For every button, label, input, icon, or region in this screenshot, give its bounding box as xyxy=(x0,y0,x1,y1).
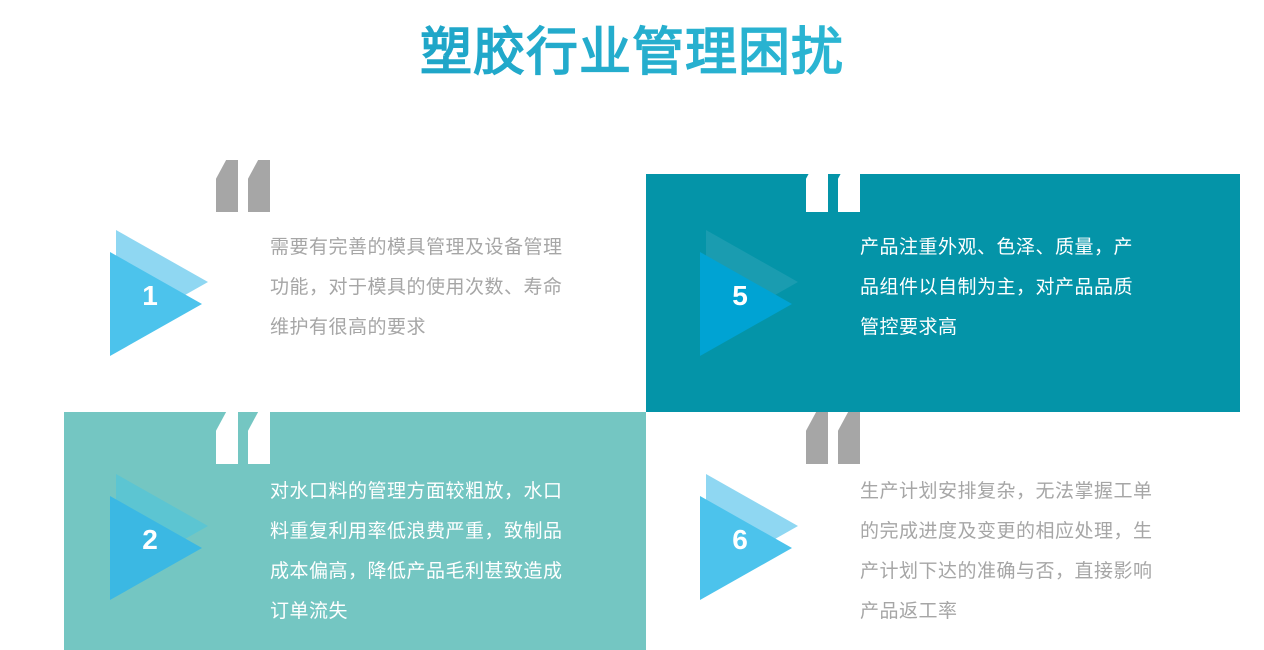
issue-text-2: 对水口料的管理方面较粗放，水口 料重复利用率低浪费严重，致制品 成本偏高，降低产… xyxy=(270,472,640,632)
issue-text-line: 生产计划安排复杂，无法掌握工单 xyxy=(860,472,1230,512)
issue-text-line: 品组件以自制为主，对产品品质 xyxy=(860,268,1230,308)
item-number-2: 2 xyxy=(132,526,168,554)
issue-text-line: 成本偏高，降低产品毛利甚致造成 xyxy=(270,552,640,592)
arrow-marker-1: 1 xyxy=(110,230,230,360)
issue-text-line: 产品返工率 xyxy=(860,592,1230,632)
quote-mark-icon xyxy=(210,412,290,478)
issue-text-line: 管控要求高 xyxy=(860,308,1230,348)
item-number-1: 1 xyxy=(132,282,168,310)
item-number-5: 5 xyxy=(722,282,758,310)
issue-text-line: 订单流失 xyxy=(270,592,640,632)
quote-mark-icon xyxy=(800,412,880,478)
item-number-6: 6 xyxy=(722,526,758,554)
arrow-marker-2: 2 xyxy=(110,474,230,604)
arrow-marker-6: 6 xyxy=(700,474,820,604)
issue-text-line: 功能，对于模具的使用次数、寿命 xyxy=(270,268,640,308)
issue-text-5: 产品注重外观、色泽、质量，产 品组件以自制为主，对产品品质 管控要求高 xyxy=(860,228,1230,348)
issue-text-line: 对水口料的管理方面较粗放，水口 xyxy=(270,472,640,512)
issue-text-line: 产计划下达的准确与否，直接影响 xyxy=(860,552,1230,592)
issue-text-6: 生产计划安排复杂，无法掌握工单 的完成进度及变更的相应处理，生 产计划下达的准确… xyxy=(860,472,1230,632)
page-title: 塑胶行业管理困扰 xyxy=(0,22,1264,84)
slide-canvas: 塑胶行业管理困扰 1 需要有完善的模具管理及设备管理 功能，对于模具的使用次数、… xyxy=(0,0,1264,650)
arrow-marker-5: 5 xyxy=(700,230,820,360)
issue-card-2[interactable]: 2 对水口料的管理方面较粗放，水口 料重复利用率低浪费严重，致制品 成本偏高，降… xyxy=(110,412,710,650)
issue-text-line: 需要有完善的模具管理及设备管理 xyxy=(270,228,640,268)
issue-text-line: 产品注重外观、色泽、质量，产 xyxy=(860,228,1230,268)
quote-mark-icon xyxy=(800,160,880,226)
issue-text-line: 的完成进度及变更的相应处理，生 xyxy=(860,512,1230,552)
issue-text-1: 需要有完善的模具管理及设备管理 功能，对于模具的使用次数、寿命 维护有很高的要求 xyxy=(270,228,640,348)
quote-mark-icon xyxy=(210,160,290,226)
issue-card-6[interactable]: 6 生产计划安排复杂，无法掌握工单 的完成进度及变更的相应处理，生 产计划下达的… xyxy=(700,412,1264,650)
issue-text-line: 维护有很高的要求 xyxy=(270,308,640,348)
issue-text-line: 料重复利用率低浪费严重，致制品 xyxy=(270,512,640,552)
